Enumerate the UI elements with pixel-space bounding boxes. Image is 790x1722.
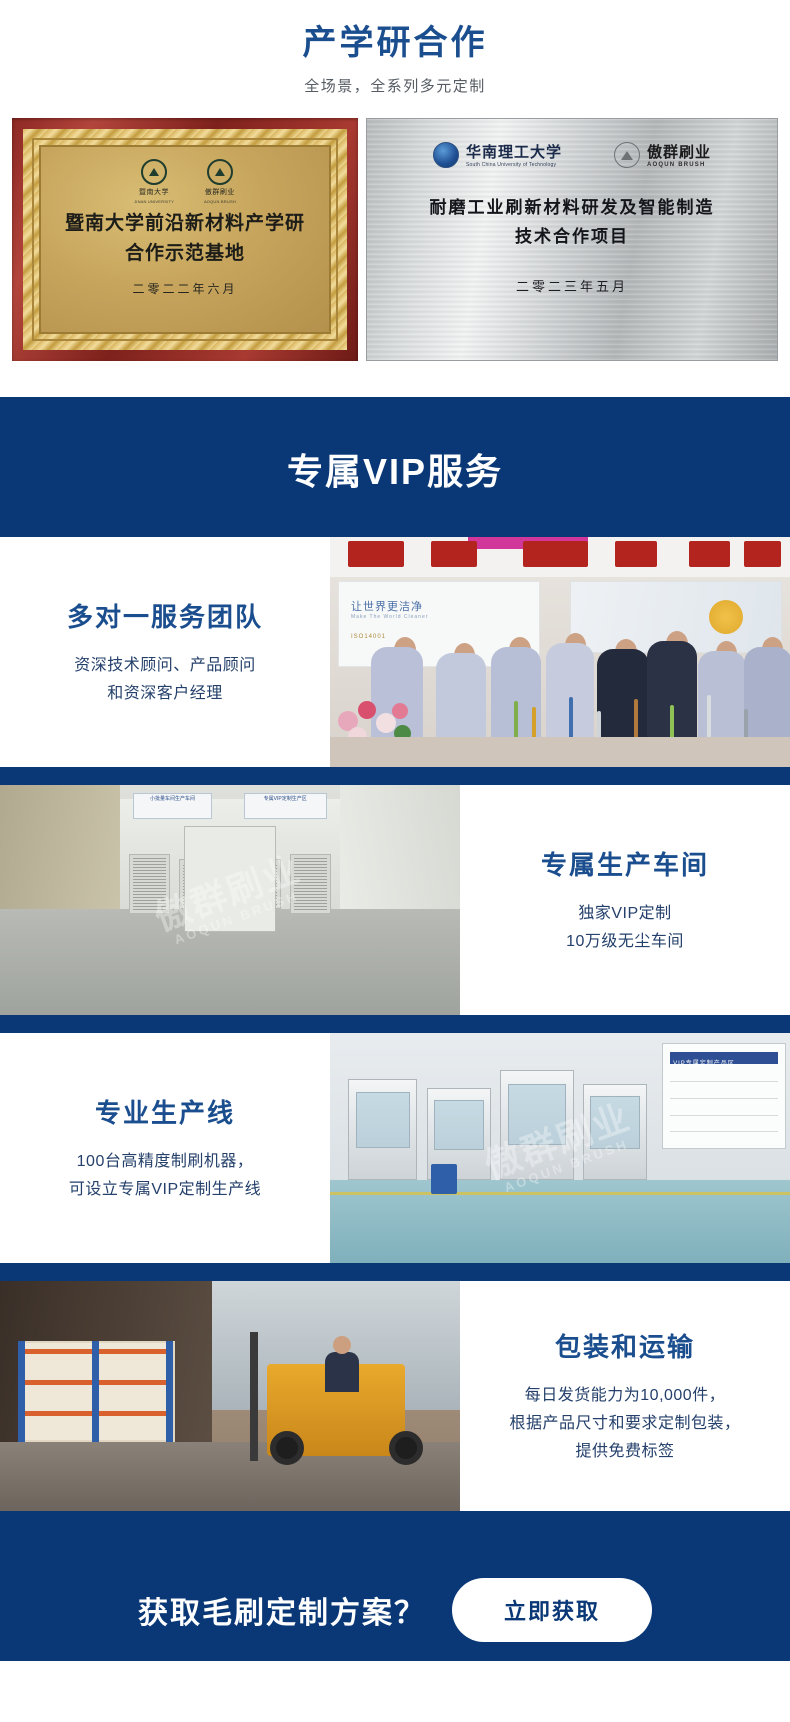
gold-plaque-date: 二零二二年六月 [132, 280, 237, 297]
card-text-block: 包装和运输 每日发货能力为10,000件， 根据产品尺寸和要求定制包装， 提供免… [460, 1281, 790, 1511]
silver-logo-left-name: 华南理工大学 [466, 141, 562, 162]
machine-window [508, 1084, 565, 1145]
vip-card-dedicated-workshop: 专属生产车间 独家VIP定制 10万级无尘车间 小批量车间生产车间 [0, 785, 790, 1015]
silver-plaque-text: 耐磨工业刷新材料研发及智能制造 技术合作项目 [430, 194, 715, 252]
aoqun-mountain-icon [614, 142, 640, 168]
workshop-sign-right: 专属VIP定制生产区 [244, 793, 327, 819]
booth-beam [744, 541, 781, 567]
brush-machine [583, 1084, 647, 1181]
person-body [436, 653, 486, 739]
gold-plaque: 暨南大学 JINAN UNIVERSITY 傲群刷业 AOQUN BRUSH 暨… [12, 118, 358, 361]
card-desc-line-2: 根据产品尺寸和要求定制包装， [509, 1410, 740, 1438]
section-header: 产学研合作 全场景，全系列多元定制 [0, 0, 790, 96]
vip-card-service-team: 多对一服务团队 资深技术顾问、产品顾问 和资深客户经理 [0, 537, 790, 767]
forklift-wheel [270, 1431, 304, 1465]
vip-card-list: 多对一服务团队 资深技术顾问、产品顾问 和资深客户经理 [0, 537, 790, 1559]
iso-certificate-label: ISO14001 [351, 634, 386, 640]
booth-beam [431, 541, 477, 567]
get-quote-button[interactable]: 立即获取 [452, 1578, 652, 1642]
gold-logo-left-name: 暨南大学 [139, 187, 169, 197]
card-title: 多对一服务团队 [67, 597, 263, 634]
card-title: 专属生产车间 [541, 845, 709, 882]
page-subtitle: 全场景，全系列多元定制 [0, 75, 790, 96]
flower [392, 703, 408, 719]
person-body [698, 651, 746, 739]
board-title: VIP专属定制产品区 [670, 1061, 735, 1067]
scut-seal-icon [433, 142, 459, 168]
card-desc-line-2: 10万级无尘车间 [566, 928, 684, 956]
university-seal-icon [141, 159, 167, 185]
gold-logo-right-name: 傲群刷业 [205, 187, 235, 197]
vip-section-title: 专属VIP服务 [0, 443, 790, 537]
gold-plaque-bevel: 暨南大学 JINAN UNIVERSITY 傲群刷业 AOQUN BRUSH 暨… [23, 129, 347, 350]
gold-logo-left-en: JINAN UNIVERSITY [134, 199, 174, 204]
booth-beam [523, 541, 587, 567]
vip-section: 专属VIP服务 多对一服务团队 资深技术顾问、产品顾问 和资深客户经理 [0, 397, 790, 1559]
gold-plaque-logos: 暨南大学 JINAN UNIVERSITY 傲群刷业 AOQUN BRUSH [134, 157, 236, 205]
pallet-rack-post [92, 1341, 99, 1442]
machine-window [590, 1096, 640, 1149]
certificate-plaques: 暨南大学 JINAN UNIVERSITY 傲群刷业 AOQUN BRUSH 暨… [0, 118, 790, 361]
silver-plaque-line2: 技术合作项目 [430, 223, 715, 252]
brush-product [514, 701, 518, 741]
machine-window [356, 1092, 410, 1148]
gold-logo-right-en: AOQUN BRUSH [204, 199, 236, 204]
silver-plaque-line1: 耐磨工业刷新材料研发及智能制造 [430, 194, 715, 223]
landing-page: 产学研合作 全场景，全系列多元定制 暨南大学 JINAN UNIVERSITY [0, 0, 790, 1722]
aoqun-logo-silver: 傲群刷业 AOQUN BRUSH [614, 141, 711, 168]
brush-product [532, 707, 536, 741]
production-line-photo: VIP专属定制产品区 傲群刷业 AOQUN BRUSH [330, 1033, 790, 1263]
card-description: 独家VIP定制 10万级无尘车间 [566, 900, 684, 956]
booth-beam [689, 541, 730, 567]
air-shower-vent [129, 854, 170, 914]
silver-plaque: 华南理工大学 South China University of Technol… [366, 118, 778, 361]
card-desc-line-1: 每日发货能力为10,000件， [509, 1382, 740, 1410]
cta-question-text: 获取毛刷定制方案？ [138, 1588, 426, 1632]
card-desc-line-2: 可设立专属VIP定制生产线 [69, 1176, 261, 1204]
booth-beam [348, 541, 403, 567]
vip-card-production-line: 专业生产线 100台高精度制刷机器， 可设立专属VIP定制生产线 VIP专属定制… [0, 1033, 790, 1263]
air-shower-vent [290, 854, 331, 914]
person-body [597, 649, 649, 739]
gold-plaque-line1: 暨南大学前沿新材料产学研 [65, 209, 305, 238]
workshop-sign-left: 小批量车间生产车间 [133, 793, 211, 819]
floor-marking-line [330, 1192, 790, 1195]
board-header: VIP专属定制产品区 [670, 1052, 778, 1064]
silver-plaque-logos: 华南理工大学 South China University of Technol… [433, 141, 711, 168]
card-desc-line-3: 提供免费标签 [509, 1438, 740, 1466]
card-title: 包装和运输 [555, 1327, 695, 1364]
silver-logo-right-name: 傲群刷业 [647, 141, 711, 162]
card-description: 100台高精度制刷机器， 可设立专属VIP定制生产线 [69, 1148, 261, 1204]
brush-machine [500, 1070, 574, 1180]
vip-product-area-board: VIP专属定制产品区 [662, 1043, 786, 1149]
board-row [670, 1115, 778, 1116]
card-description: 每日发货能力为10,000件， 根据产品尺寸和要求定制包装， 提供免费标签 [509, 1382, 740, 1466]
vip-card-packaging-shipping: 包装和运输 每日发货能力为10,000件， 根据产品尺寸和要求定制包装， 提供免… [0, 1281, 790, 1511]
board-row [670, 1081, 778, 1082]
brush-product [670, 705, 674, 741]
forklift-loading-photo [0, 1281, 460, 1511]
banner-slogan-cn: 让世界更洁净 [351, 598, 423, 614]
scut-logo: 华南理工大学 South China University of Technol… [433, 141, 562, 168]
banner-slogan-en: Make The World Cleaner [351, 614, 428, 620]
gold-plaque-inner: 暨南大学 JINAN UNIVERSITY 傲群刷业 AOQUN BRUSH 暨… [39, 145, 331, 334]
machine-window [434, 1100, 484, 1150]
person-body [744, 647, 790, 739]
clean-room-workshop-photo: 小批量车间生产车间 专属VIP定制生产区 傲群刷业 AOQUN BRUSH [0, 785, 460, 1015]
brush-product [634, 699, 638, 741]
brush-product [707, 695, 711, 741]
booth-beam [615, 541, 656, 567]
card-description: 资深技术顾问、产品顾问 和资深客户经理 [74, 652, 256, 708]
gold-plaque-line2: 合作示范基地 [65, 239, 305, 268]
silver-plaque-date: 二零二三年五月 [516, 276, 628, 295]
aoqun-brush-logo: 傲群刷业 AOQUN BRUSH [204, 159, 236, 204]
aoqun-mountain-icon [207, 159, 233, 185]
card-desc-line-1: 100台高精度制刷机器， [69, 1148, 261, 1176]
display-table [330, 737, 790, 767]
card-text-block: 多对一服务团队 资深技术顾问、产品顾问 和资深客户经理 [0, 537, 330, 767]
card-desc-line-2: 和资深客户经理 [74, 680, 256, 708]
pallet-rack-post [18, 1341, 25, 1442]
brush-machine [348, 1079, 417, 1180]
silver-logo-right-en: AOQUN BRUSH [647, 162, 711, 168]
page-title: 产学研合作 [0, 24, 790, 63]
workshop-doorway [184, 826, 276, 932]
screen-sun-graphic [709, 600, 743, 634]
card-desc-line-1: 资深技术顾问、产品顾问 [74, 652, 256, 680]
forklift-mast [250, 1332, 258, 1461]
card-title: 专业生产线 [95, 1093, 235, 1130]
gold-plaque-frame: 暨南大学 JINAN UNIVERSITY 傲群刷业 AOQUN BRUSH 暨… [12, 118, 358, 361]
card-text-block: 专业生产线 100台高精度制刷机器， 可设立专属VIP定制生产线 [0, 1033, 330, 1263]
exhibition-team-photo: 让世界更洁净 Make The World Cleaner ISO14001 [330, 537, 790, 767]
cta-bar: 获取毛刷定制方案？ 立即获取 [0, 1559, 790, 1661]
flower [358, 701, 376, 719]
card-text-block: 专属生产车间 独家VIP定制 10万级无尘车间 [460, 785, 790, 1015]
gold-plaque-text: 暨南大学前沿新材料产学研 合作示范基地 [65, 209, 305, 268]
board-row [670, 1098, 778, 1099]
board-row [670, 1131, 778, 1132]
forklift-driver [325, 1352, 359, 1392]
silver-logo-left-en: South China University of Technology [466, 162, 562, 168]
brush-product [569, 697, 573, 741]
pallet-rack-post [166, 1341, 173, 1442]
jinan-university-logo: 暨南大学 JINAN UNIVERSITY [134, 159, 174, 204]
workshop-floor [330, 1180, 790, 1263]
material-bin [431, 1164, 457, 1194]
silver-plaque-plate: 华南理工大学 South China University of Technol… [366, 118, 778, 361]
card-desc-line-1: 独家VIP定制 [566, 900, 684, 928]
